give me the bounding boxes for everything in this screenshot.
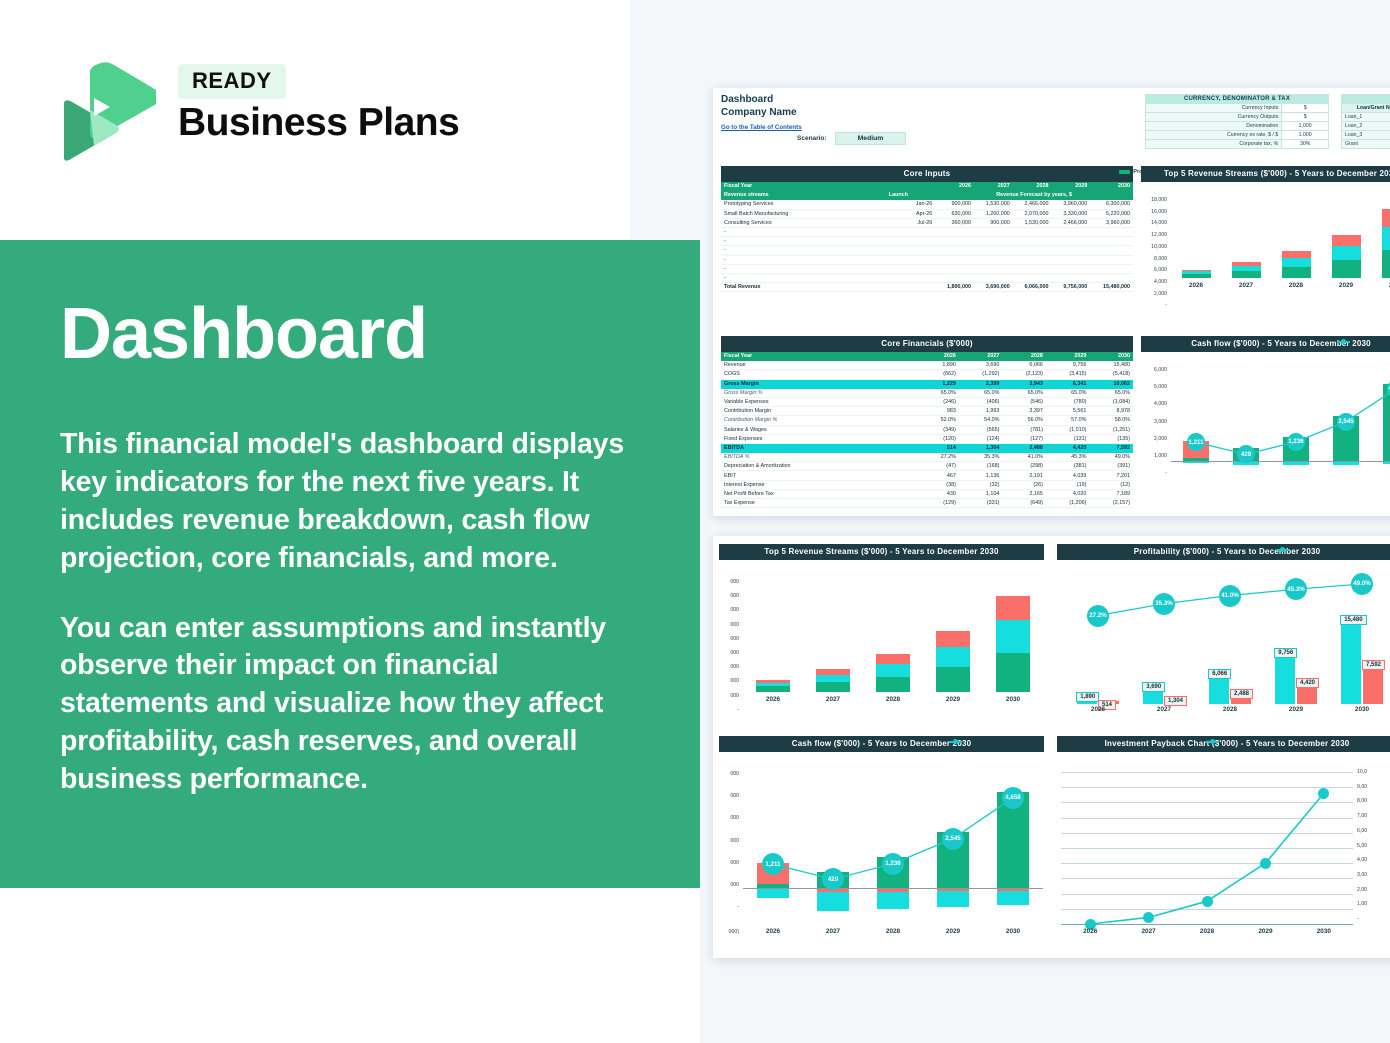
financial-cell: (781)	[1002, 425, 1046, 434]
data-point-label: 2,545	[1337, 413, 1355, 431]
stream-name: -	[721, 273, 886, 282]
financial-cell: (406)	[959, 397, 1003, 406]
brand-logo: READY Business Plans	[60, 58, 440, 168]
year-header: 2026	[919, 352, 959, 361]
year-header: 2028	[1013, 182, 1052, 191]
stream-name: Consulting Services	[721, 218, 886, 227]
x-axis-label: 2029	[1321, 282, 1371, 289]
financial-cell: 56.0%	[1002, 416, 1046, 425]
financial-cell: (391)	[1089, 462, 1133, 471]
chart-revenue-streams-bottom[interactable]: Top 5 Revenue Streams ($'000) - 5 Years …	[719, 544, 1049, 730]
x-axis-label: 2029	[1236, 928, 1294, 935]
x-axis-label: 2026	[1061, 928, 1119, 935]
financial-cell: (1,206)	[1046, 499, 1090, 508]
table-row[interactable]: -	[721, 273, 1133, 282]
financial-row-label: Gross Margin %	[721, 388, 919, 397]
table-row[interactable]: Small Batch ManufacturingApr-26630,0001,…	[721, 209, 1133, 218]
stream-value[interactable]: 2,070,000	[1013, 209, 1052, 218]
table-row: Revenue1,8903,6906,0669,75615,480	[721, 361, 1133, 370]
financial-cell: (129)	[919, 499, 959, 508]
financial-cell: 65.0%	[1002, 388, 1046, 397]
financial-cell: (2,123)	[1002, 370, 1046, 379]
bar-segment	[936, 667, 971, 692]
financial-cell: (19)	[1046, 480, 1090, 489]
financial-row-label: Variable Expenses	[721, 397, 919, 406]
financial-cell: 8,978	[1089, 407, 1133, 416]
y-axis-labels: 000000 000000 000000 -000)	[719, 772, 739, 936]
debt-assumptions-table: DEBT ASSUMPTIONS Loan/Grant Name Amount,…	[1341, 94, 1390, 149]
financial-cell: 65.0%	[919, 388, 959, 397]
financial-cell: (3,415)	[1046, 370, 1090, 379]
currency-row-label: Corporate tax, %	[1146, 140, 1282, 149]
bar-column	[743, 580, 803, 692]
financial-cell: 7,592	[1089, 443, 1133, 452]
total-revenue-value: 1,890,000	[935, 283, 974, 292]
x-axis-label: 2027	[1221, 282, 1271, 289]
bar-segment	[996, 653, 1031, 692]
financial-cell: 1,229	[919, 379, 959, 388]
financial-cell: (131)	[1046, 434, 1090, 443]
financial-cell: (47)	[919, 462, 959, 471]
table-row: Net Profit Before Tax4301,1042,1654,0207…	[721, 489, 1133, 498]
financial-row-label: Fixed Expenses	[721, 434, 919, 443]
financial-cell: (1,251)	[1089, 425, 1133, 434]
financial-row-label: EBIT	[721, 471, 919, 480]
financial-cell: (565)	[959, 425, 1003, 434]
financial-cell: 7,201	[1089, 471, 1133, 480]
table-row: Gross Margin %65.0%65.0%65.0%65.0%65.0%	[721, 388, 1133, 397]
year-header: 2029	[1052, 182, 1091, 191]
total-revenue-label: Total Revenue	[721, 283, 886, 292]
debt-cell: Grant	[1342, 140, 1390, 149]
year-header: 2026	[935, 182, 974, 191]
x-axis-label: 2030	[1329, 706, 1390, 713]
data-point	[1260, 858, 1271, 869]
stream-value[interactable]: 360,000	[935, 218, 974, 227]
financial-cell: 9,756	[1046, 361, 1090, 370]
x-axis-labels: 20262027202820292030	[1171, 282, 1390, 289]
financial-cell: 15,480	[1089, 361, 1133, 370]
bar-segment	[876, 654, 911, 664]
stream-launch[interactable]: Apr-26	[886, 209, 935, 218]
debt-cell: Loan_2	[1342, 122, 1390, 131]
financial-cell: 4,420	[1046, 443, 1090, 452]
financial-cell: (649)	[1002, 499, 1046, 508]
currency-row-value[interactable]: 30%	[1282, 140, 1329, 149]
bar-segment	[1282, 258, 1311, 267]
table-row: EBITDA %27.2%35.3%41.0%45.3%49.0%	[721, 453, 1133, 462]
financial-cell: 5,561	[1046, 407, 1090, 416]
bar-segment	[876, 677, 911, 692]
table-row: EBITDA5141,3042,4884,4207,592	[721, 443, 1133, 452]
x-axis-label: 2027	[803, 696, 863, 703]
bar-segment	[816, 682, 851, 692]
bar-column	[1321, 198, 1371, 278]
stream-value[interactable]: 900,000	[974, 218, 1013, 227]
data-point-label: 35.3%	[1153, 593, 1175, 615]
x-axis-labels: 20262027202820292030	[1061, 928, 1353, 935]
financial-cell: (127)	[1002, 434, 1046, 443]
financial-cell: (349)	[919, 425, 959, 434]
year-header: 2029	[1046, 352, 1090, 361]
data-point-label: 41.0%	[1219, 585, 1241, 607]
financial-cell: 3,397	[1002, 407, 1046, 416]
table-row[interactable]: Loan_2	[1342, 122, 1390, 131]
dashboard-screenshot-top[interactable]: Dashboard Company Name Go to the Table o…	[713, 88, 1390, 516]
financial-cell: 6,066	[1002, 361, 1046, 370]
financial-cell: (662)	[919, 370, 959, 379]
bar-segment	[996, 596, 1031, 621]
financial-row-label: Tax Expense	[721, 499, 919, 508]
table-row[interactable]: -	[721, 227, 1133, 236]
data-point	[1202, 896, 1213, 907]
scenario-label: Scenario:	[797, 135, 827, 142]
chart-title: Profitability ($'000) - 5 Years to Decem…	[1057, 544, 1390, 560]
chart-cashflow-bottom[interactable]: Cash flow ($'000) - 5 Years to December …	[719, 736, 1049, 952]
financial-cell: (124)	[959, 434, 1003, 443]
bar-segment	[1382, 227, 1390, 250]
chart-investment-payback[interactable]: Investment Payback Chart ($'000) - 5 Yea…	[1057, 736, 1390, 952]
bar-segment	[1382, 250, 1390, 278]
x-axis-label: 2026	[1065, 706, 1131, 713]
data-point-label: 49.0%	[1351, 573, 1373, 595]
data-point-label: 1,236	[1287, 433, 1305, 451]
x-axis-label: 2026	[1171, 282, 1221, 289]
brand-name: Business Plans	[178, 103, 459, 144]
stream-name: -	[721, 246, 886, 255]
financial-row-label: Salaries & Wages	[721, 425, 919, 434]
x-axis-label: 2030	[1371, 282, 1390, 289]
financial-cell: 41.0%	[1002, 453, 1046, 462]
stream-value[interactable]: 2,466,000	[1052, 218, 1091, 227]
stream-name: Prototyping Services	[721, 200, 886, 209]
bar-segment	[1182, 274, 1211, 278]
bar-column	[1171, 198, 1221, 278]
stream-name: Small Batch Manufacturing	[721, 209, 886, 218]
financial-cell: 6,341	[1046, 379, 1090, 388]
financial-cell: 2,399	[959, 379, 1003, 388]
financial-row-label: Net Profit Before Tax	[721, 489, 919, 498]
stream-name: -	[721, 264, 886, 273]
stream-value[interactable]: 630,000	[935, 209, 974, 218]
data-point	[1318, 788, 1329, 799]
debt-cell: Loan_3	[1342, 131, 1390, 140]
financial-cell: (298)	[1002, 462, 1046, 471]
financial-cell: 65.0%	[1089, 388, 1133, 397]
chart-revenue-streams-top[interactable]: Top 5 Revenue Streams ($'000) - 5 Years …	[1141, 166, 1390, 326]
bar-segment	[1382, 209, 1390, 227]
total-revenue-row: Total Revenue 1,890,000 3,690,000 6,066,…	[721, 283, 1133, 292]
chart-cashflow-top[interactable]: Cash flow ($'000) - 5 Years to December …	[1141, 336, 1390, 506]
bar-segment	[1332, 246, 1361, 261]
stream-value[interactable]: 1,530,000	[974, 200, 1013, 209]
financial-row-label: Revenue	[721, 361, 919, 370]
chart-title: Top 5 Revenue Streams ($'000) - 5 Years …	[719, 544, 1044, 560]
chart-plot: 1,8905143,6901,3046,0662,4889,7564,42015…	[1065, 578, 1390, 704]
table-row: Fixed Expenses(120)(124)(127)(131)(135)	[721, 434, 1133, 443]
core-inputs-band: Core Inputs	[721, 166, 1133, 182]
financial-cell: 52.0%	[919, 416, 959, 425]
fiscal-year-label: Fiscal Year	[721, 182, 886, 191]
launch-label: Launch	[886, 191, 935, 200]
financial-cell: (38)	[919, 480, 959, 489]
bar-segment	[1332, 235, 1361, 246]
bar-column	[1371, 198, 1390, 278]
x-axis-label: 2028	[1271, 282, 1321, 289]
table-row: Depreciation & Amortization(47)(168)(298…	[721, 462, 1133, 471]
year-header: 2027	[959, 352, 1003, 361]
stream-launch[interactable]: Jul-26	[886, 218, 935, 227]
financial-cell: (1,010)	[1046, 425, 1090, 434]
gridline	[1061, 924, 1353, 925]
x-axis-label: 2026	[743, 928, 803, 935]
financial-cell: 4,020	[1046, 489, 1090, 498]
table-row: Contribution Margin9831,9933,3975,5618,9…	[721, 407, 1133, 416]
stream-value[interactable]: 3,960,000	[1090, 218, 1133, 227]
x-axis-label: 2029	[923, 928, 983, 935]
page-title: Dashboard	[60, 298, 644, 370]
stream-name: -	[721, 227, 886, 236]
chart-title: Cash flow ($'000) - 5 Years to December …	[1141, 336, 1390, 352]
bar-column	[1271, 198, 1321, 278]
financial-row-label: Depreciation & Amortization	[721, 462, 919, 471]
table-row: Gross Margin1,2292,3993,9436,34110,062	[721, 379, 1133, 388]
table-row[interactable]: -	[721, 246, 1133, 255]
bar-segment	[1232, 271, 1261, 278]
financial-cell: 58.0%	[1089, 416, 1133, 425]
bar-segment	[756, 686, 791, 692]
stream-name: -	[721, 255, 886, 264]
total-revenue-value: 15,480,000	[1090, 283, 1133, 292]
currency-row-label: Denomination	[1146, 122, 1282, 131]
stream-value[interactable]: 1,530,000	[1013, 218, 1052, 227]
hero-paragraph-1: This financial model's dashboard display…	[60, 426, 644, 578]
financial-cell: 467	[919, 471, 959, 480]
financial-cell: 45.3%	[1046, 453, 1090, 462]
chart-profitability[interactable]: Profitability ($'000) - 5 Years to Decem…	[1057, 544, 1390, 730]
bar-segment	[996, 620, 1031, 652]
data-point-label: 2,545	[942, 828, 964, 850]
total-revenue-value: 9,756,000	[1052, 283, 1091, 292]
financial-cell: (381)	[1046, 462, 1090, 471]
table-row[interactable]: Loan_3	[1342, 131, 1390, 140]
financial-cell: (135)	[1089, 434, 1133, 443]
financial-cell: (120)	[919, 434, 959, 443]
financial-cell: 54.0%	[959, 416, 1003, 425]
y-axis-labels: 10,09,00 8,007,00 6,005,00 4,003,00 2,00…	[1357, 770, 1390, 922]
financial-cell: 35.3%	[959, 453, 1003, 462]
financial-cell: 1,304	[959, 443, 1003, 452]
table-row[interactable]: Prototyping ServicesJan-26900,0001,530,0…	[721, 200, 1133, 209]
x-axis-label: 2027	[1131, 706, 1197, 713]
year-header: 2028	[1002, 352, 1046, 361]
stream-name: -	[721, 237, 886, 246]
x-axis-label: 2028	[1197, 706, 1263, 713]
currency-row-label: Currency Outputs	[1146, 113, 1282, 122]
x-axis-label: 2028	[863, 928, 923, 935]
financial-cell: (168)	[959, 462, 1003, 471]
data-point-label: 1,236	[882, 853, 904, 875]
financial-cell: 65.0%	[959, 388, 1003, 397]
financial-cell: 1,993	[959, 407, 1003, 416]
x-axis-label: 2027	[803, 928, 863, 935]
data-point	[1143, 912, 1154, 923]
currency-row-label: Currency Inputs	[1146, 104, 1282, 113]
currency-table-caption: CURRENCY, DENOMINATOR & TAX	[1146, 95, 1329, 104]
table-row[interactable]: Grant	[1342, 140, 1390, 149]
brand-wordmark: READY Business Plans	[178, 64, 459, 144]
financial-cell: 430	[919, 489, 959, 498]
table-row: Salaries & Wages(349)(565)(781)(1,010)(1…	[721, 425, 1133, 434]
financial-cell: (246)	[919, 397, 959, 406]
stream-value[interactable]: 3,330,000	[1052, 209, 1091, 218]
table-row[interactable]: Loan_1 500,000 Jan-26 72 8.0% Annuity	[1342, 113, 1390, 122]
financial-row-label: Gross Margin	[721, 379, 919, 388]
stream-value[interactable]: 6,300,000	[1090, 200, 1133, 209]
financial-cell: 10,062	[1089, 379, 1133, 388]
core-financials-band: Core Financials ($'000)	[721, 336, 1133, 352]
y-axis-labels: 000000 000000 000000 000000 000-	[719, 580, 739, 713]
table-row[interactable]: -	[721, 237, 1133, 246]
currency-row-value[interactable]: $	[1282, 113, 1329, 122]
currency-row-value[interactable]: 1,000	[1282, 122, 1329, 131]
chart-bars	[743, 580, 1043, 692]
financial-cell: (546)	[1002, 397, 1046, 406]
page-background-bottom-left	[0, 888, 700, 1043]
financial-cell: 4,039	[1046, 471, 1090, 480]
financial-cell: 2,191	[1002, 471, 1046, 480]
chart-plot: 1,2114291,2362,5454,658	[743, 772, 1043, 924]
stream-value[interactable]: 3,960,000	[1052, 200, 1091, 209]
table-row[interactable]: -	[721, 264, 1133, 273]
table-of-contents-link[interactable]: Go to the Table of Contents	[721, 124, 802, 131]
financial-cell: (1,084)	[1089, 397, 1133, 406]
bar-segment	[816, 675, 851, 683]
bar-column	[863, 580, 923, 692]
financial-cell: 983	[919, 407, 959, 416]
financial-cell: 3,943	[1002, 379, 1046, 388]
bar-segment	[1282, 251, 1311, 258]
chart-title: Cash flow ($'000) - 5 Years to December …	[719, 736, 1044, 752]
x-axis-label: 2030	[983, 696, 1043, 703]
total-revenue-value: 6,066,000	[1013, 283, 1052, 292]
chart-plot: 1,2114291,2362,5454,658	[1171, 368, 1390, 468]
x-axis-labels: 20262027202820292030	[743, 928, 1043, 935]
x-axis-labels: 20262027202820292030	[743, 696, 1043, 703]
scenario-value[interactable]: Medium	[835, 132, 907, 145]
financial-cell: (780)	[1046, 397, 1090, 406]
table-row: Variable Expenses(246)(406)(546)(780)(1,…	[721, 397, 1133, 406]
financial-row-label: Contribution Margin %	[721, 416, 919, 425]
financial-row-label: EBITDA	[721, 443, 919, 452]
table-row: EBIT4671,1362,1914,0397,201	[721, 471, 1133, 480]
financial-cell: (1,292)	[959, 370, 1003, 379]
bar-segment	[936, 631, 971, 646]
bar-column	[923, 580, 983, 692]
stream-value[interactable]: 1,260,000	[974, 209, 1013, 218]
bar-segment	[1332, 260, 1361, 278]
chart-bars	[1171, 198, 1390, 278]
financial-cell: 65.0%	[1046, 388, 1090, 397]
x-axis-label: 2028	[863, 696, 923, 703]
x-axis-label: 2030	[983, 928, 1043, 935]
stream-launch[interactable]: Jan-26	[886, 200, 935, 209]
debt-header: Loan/Grant Name	[1342, 104, 1390, 113]
year-header: 2027	[974, 182, 1013, 191]
bar-segment	[936, 647, 971, 668]
table-row[interactable]: -	[721, 255, 1133, 264]
debt-table-caption: DEBT ASSUMPTIONS	[1342, 95, 1390, 104]
hero-paragraph-2: You can enter assumptions and instantly …	[60, 610, 644, 799]
table-row: Interest Expense(38)(32)(26)(19)(12)	[721, 480, 1133, 489]
x-axis-label: 2029	[1263, 706, 1329, 713]
x-axis-label: 2026	[743, 696, 803, 703]
bar-segment	[876, 664, 911, 677]
x-axis-label: 2029	[923, 696, 983, 703]
sheet-title-block: Dashboard Company Name	[721, 94, 797, 119]
play-triangle-logo-icon	[60, 58, 156, 162]
chart-plot	[1061, 772, 1353, 924]
financial-cell: 1,104	[959, 489, 1003, 498]
currency-row-label: Currency ex rate, $ / $	[1146, 131, 1282, 140]
financial-cell: 2,165	[1002, 489, 1046, 498]
data-point-label: 4,658	[1002, 787, 1024, 809]
brand-badge: READY	[178, 64, 286, 99]
financial-row-label: COGS	[721, 370, 919, 379]
y-axis-labels: 6,0005,000 4,0003,000 2,0001,000 -	[1141, 368, 1167, 476]
financial-cell: (12)	[1089, 480, 1133, 489]
financial-cell: 49.0%	[1089, 453, 1133, 462]
table-row: Contribution Margin %52.0%54.0%56.0%57.0…	[721, 416, 1133, 425]
stream-value[interactable]: 900,000	[935, 200, 974, 209]
bar-column	[803, 580, 863, 692]
financial-cell: 1,890	[919, 361, 959, 370]
table-row[interactable]: Consulting ServicesJul-26360,000900,0001…	[721, 218, 1133, 227]
financial-cell: 3,690	[959, 361, 1003, 370]
chart-title: Top 5 Revenue Streams ($'000) - 5 Years …	[1141, 166, 1390, 182]
debt-cell: Loan_1	[1342, 113, 1390, 122]
bar-column	[1221, 198, 1271, 278]
financial-cell: (2,157)	[1089, 499, 1133, 508]
financial-cell: (26)	[1002, 480, 1046, 489]
currency-denominator-tax-table: CURRENCY, DENOMINATOR & TAX Currency Inp…	[1145, 94, 1329, 149]
x-axis-label: 2027	[1119, 928, 1177, 935]
financial-cell: 7,189	[1089, 489, 1133, 498]
financial-cell: 1,136	[959, 471, 1003, 480]
table-row: COGS(662)(1,292)(2,123)(3,415)(5,418)	[721, 370, 1133, 379]
forecast-label: Revenue Forecast by years, $	[935, 191, 1133, 200]
financial-row-label: Interest Expense	[721, 480, 919, 489]
scenario-selector[interactable]: Scenario: Medium	[797, 132, 906, 145]
dashboard-screenshot-bottom[interactable]: Top 5 Revenue Streams ($'000) - 5 Years …	[713, 536, 1390, 958]
table-row: Tax Expense(129)(331)(649)(1,206)(2,157)	[721, 499, 1133, 508]
stream-value[interactable]: 5,220,000	[1090, 209, 1133, 218]
year-header: 2030	[1089, 352, 1133, 361]
currency-row-value[interactable]: $	[1282, 104, 1329, 113]
currency-row-value[interactable]: 1.000	[1282, 131, 1329, 140]
revenue-streams-label: Revenue streams	[721, 191, 886, 200]
financial-row-label: Contribution Margin	[721, 407, 919, 416]
x-axis-label: 2030	[1295, 928, 1353, 935]
stream-value[interactable]: 2,466,000	[1013, 200, 1052, 209]
financial-cell: (5,418)	[1089, 370, 1133, 379]
year-header: 2030	[1090, 182, 1133, 191]
data-point-label: 27.2%	[1087, 605, 1109, 627]
financial-row-label: EBITDA %	[721, 453, 919, 462]
financial-cell: (32)	[959, 480, 1003, 489]
chart-title: Investment Payback Chart ($'000) - 5 Yea…	[1057, 736, 1390, 752]
x-axis-labels: 20262027202820292030	[1065, 706, 1390, 713]
